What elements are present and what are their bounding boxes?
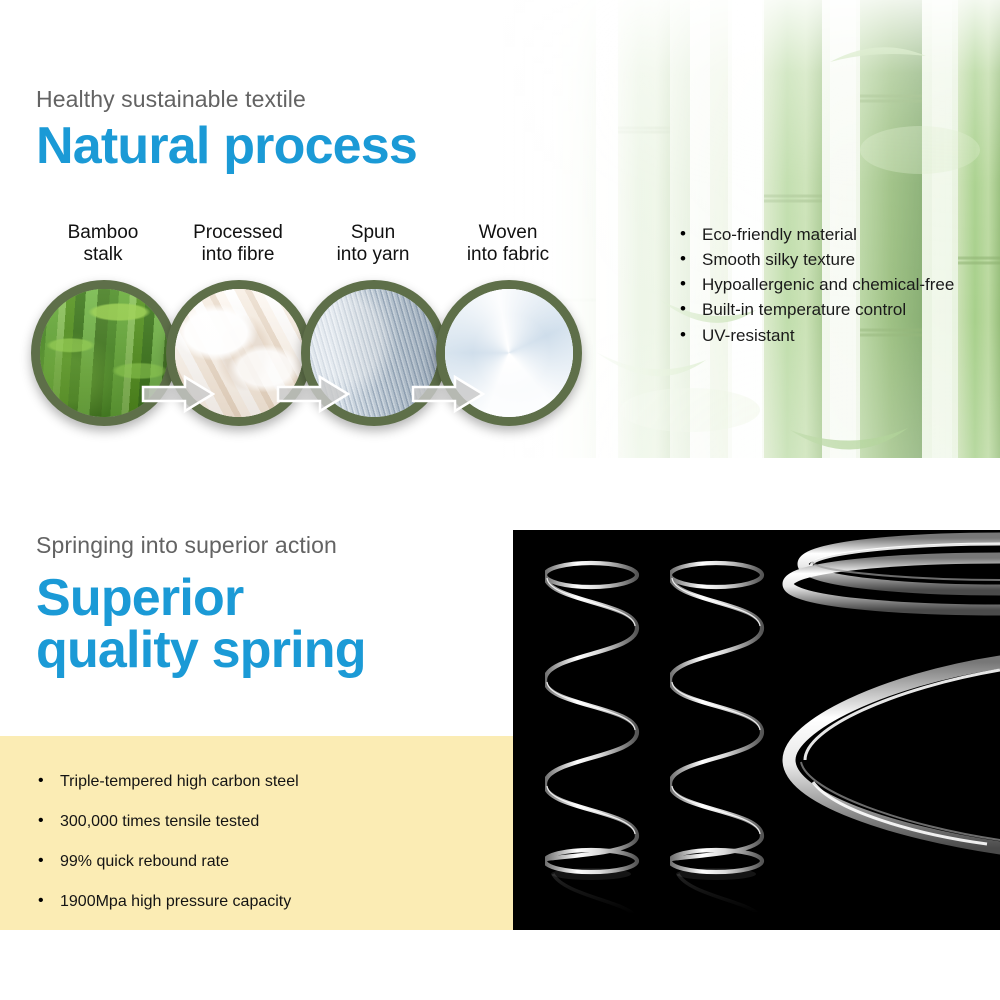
list-item: UV-resistant	[676, 323, 996, 348]
process-steps: Bamboo stalk Processed into fibre Spun i…	[28, 222, 628, 458]
bamboo-headline: Natural process	[36, 119, 417, 173]
list-item: Eco-friendly material	[676, 222, 996, 247]
list-item: 99% quick rebound rate	[30, 854, 490, 870]
coil-springs-background-image	[513, 530, 1000, 930]
process-step-label: Bamboo stalk	[28, 222, 178, 266]
coil-springs-illustration	[513, 530, 1000, 930]
bamboo-kicker: Healthy sustainable textile	[36, 86, 417, 112]
list-item: Built-in temperature control	[676, 297, 996, 322]
list-item: Hypoallergenic and chemical-free	[676, 272, 996, 297]
process-step-label: Woven into fabric	[433, 222, 583, 266]
process-step-label: Spun into yarn	[298, 222, 448, 266]
spring-feature-list: Triple-tempered high carbon steel 300,00…	[30, 774, 490, 934]
spring-headline: Superior quality spring	[36, 572, 366, 676]
list-item: 1900Mpa high pressure capacity	[30, 894, 490, 910]
process-step-label: Processed into fibre	[163, 222, 313, 266]
process-step-processed-into-fibre: Processed into fibre	[163, 222, 313, 266]
right-arrow-icon	[411, 374, 485, 414]
bamboo-heading-group: Healthy sustainable textile Natural proc…	[36, 86, 417, 174]
bamboo-feature-list: Eco-friendly material Smooth silky textu…	[676, 222, 996, 348]
process-step-spun-into-yarn: Spun into yarn	[298, 222, 448, 266]
process-step-bamboo-stalk: Bamboo stalk	[28, 222, 178, 266]
process-step-woven-into-fabric: Woven into fabric	[433, 222, 583, 266]
spring-heading-group: Springing into superior action Superior …	[36, 532, 366, 676]
right-arrow-icon	[276, 374, 350, 414]
right-arrow-icon	[141, 374, 215, 414]
spring-kicker: Springing into superior action	[36, 532, 366, 558]
bamboo-panel: Healthy sustainable textile Natural proc…	[0, 0, 1000, 458]
spring-feature-panel: Triple-tempered high carbon steel 300,00…	[0, 736, 513, 930]
spring-panel: Springing into superior action Superior …	[0, 458, 1000, 1000]
list-item: Smooth silky texture	[676, 247, 996, 272]
list-item: Triple-tempered high carbon steel	[30, 774, 490, 790]
list-item: 300,000 times tensile tested	[30, 814, 490, 830]
product-feature-page: Healthy sustainable textile Natural proc…	[0, 0, 1000, 1000]
